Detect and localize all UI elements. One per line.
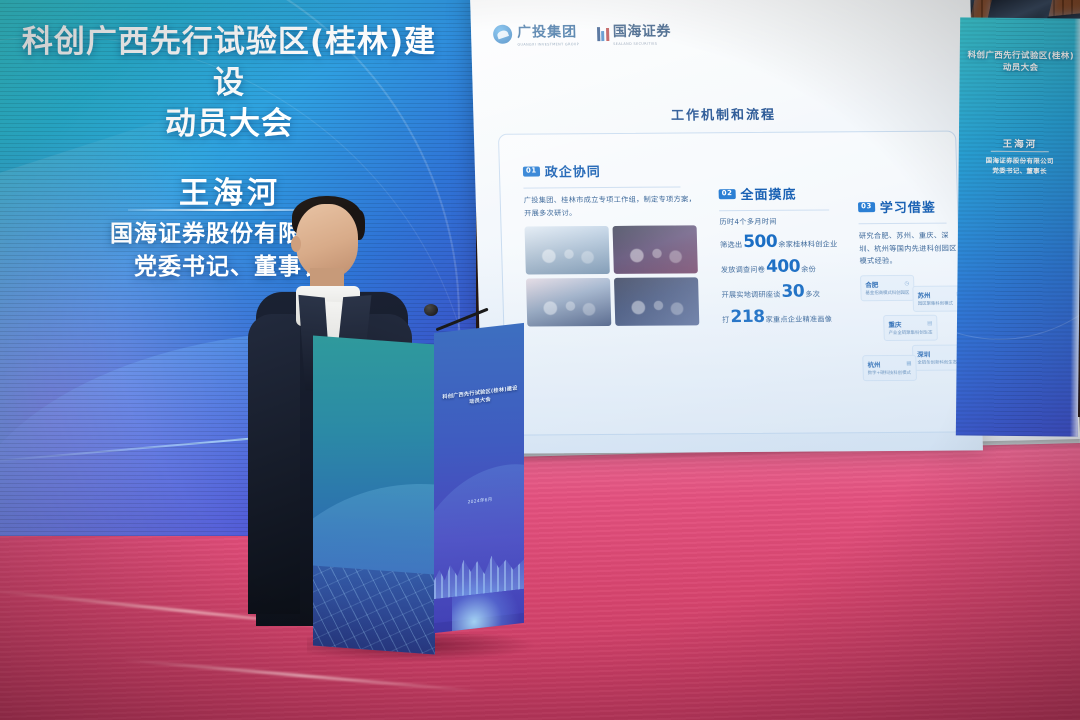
podium-light-flare — [452, 565, 524, 633]
logo-2-name: 国海证券 — [613, 24, 671, 40]
podium-circuit-graphic — [313, 565, 435, 655]
conference-stage-scene: 科创广西先行试验区(桂林)建设 动员大会 王海河 国海证券股份有限公司 党委书记… — [0, 0, 1080, 720]
section-03-city-cards: 合肥 ◷ 基金招商模式科创园区 苏州 ◨ 园区聚集科创模式 重庆 ▤ — [860, 274, 963, 387]
logo-1-subtitle: GUANGXI INVESTMENT GROUP — [517, 42, 579, 46]
slide-section-01: 01 政企协同 广投集团、桂林市成立专项工作组，制定专项方案，开展多次研讨。 — [523, 160, 706, 326]
city-card: 重庆 ▤ 产业全链聚集科创生态 — [883, 314, 938, 340]
logo-bars-shape — [597, 27, 609, 41]
section-03-body: 研究合肥、苏州、重庆、深圳、杭州等国内先进科创园区模式经验。 — [859, 230, 960, 268]
section-01-body: 广投集团、桂林市成立专项工作组，制定专项方案，开展多次研讨。 — [524, 193, 703, 219]
stat-suffix: 多次 — [805, 289, 820, 299]
city-name: 重庆 — [888, 319, 901, 329]
stat-row: 打 218 家重点企业精准画像 — [722, 306, 848, 327]
speaking-podium: 科创广西先行试验区(桂林)建设动员大会 2024年6月 — [313, 334, 523, 654]
stat-suffix: 家重点企业精准画像 — [765, 314, 832, 324]
guangtou-swoosh-logo-icon: 广投集团 GUANGXI INVESTMENT GROUP — [493, 21, 579, 47]
section-03-divider — [859, 223, 947, 225]
city-desc: 园区聚集科创模式 — [918, 301, 962, 307]
section-02-title: 全面摸底 — [740, 184, 797, 203]
stat-row: 发放调查问卷 400 余份 — [720, 256, 846, 277]
city-desc: 基金招商模式科创园区 — [865, 291, 909, 297]
left-arm — [248, 314, 300, 614]
city-card-row: 深圳 ◈ — [917, 348, 961, 358]
slide-heading: 工作机制和流程 — [473, 102, 974, 124]
city-card-icon: ▦ — [906, 361, 911, 367]
left-title-line-2: 动员大会 — [14, 104, 444, 145]
head — [296, 204, 358, 278]
city-desc: 全链条创新科创生态 — [917, 360, 961, 366]
city-name: 合肥 — [865, 279, 878, 289]
city-name: 深圳 — [917, 348, 930, 358]
section-02-header: 02 全面摸底 — [718, 183, 844, 203]
photo-factory-visit — [525, 226, 610, 275]
section-01-divider — [523, 186, 680, 188]
city-card-row: 重庆 ▤ — [888, 318, 932, 328]
slide-section-02: 02 全面摸底 历时4个多月时间 筛选出 500 余家桂林科创企业 发放调查问卷… — [718, 183, 847, 327]
section-03-badge: 03 — [858, 202, 875, 212]
podium-side-face — [434, 323, 524, 633]
center-projection-screen: 广投集团 GUANGXI INVESTMENT GROUP 国海证券 SEALA… — [470, 0, 983, 454]
city-card: 杭州 ▦ 数字+硬科技科创模式 — [862, 355, 917, 381]
stat-row: 筛选出 500 余家桂林科创企业 — [720, 231, 846, 252]
left-screen-title: 科创广西先行试验区(桂林)建设 动员大会 — [14, 22, 444, 145]
right-led-display: 科创广西先行试验区(桂林) 动员大会 王海河 国海证券股份有限公司 党委书记、董… — [956, 17, 1080, 436]
section-01-photo-grid — [525, 226, 700, 327]
city-card-icon: ◷ — [904, 281, 909, 287]
stat-prefix: 筛选出 — [720, 240, 742, 250]
stat-prefix: 打 — [722, 315, 730, 325]
section-01-title: 政企协同 — [544, 161, 601, 180]
section-02-lead: 历时4个多月时间 — [719, 216, 844, 227]
stat-number: 400 — [766, 257, 801, 277]
section-01-badge: 01 — [523, 166, 540, 176]
logo-mark-shape — [493, 25, 513, 44]
city-card-row: 苏州 ◨ — [917, 289, 961, 299]
stat-number: 218 — [730, 307, 765, 327]
logo-1-name: 广投集团 — [517, 24, 577, 40]
logo-2-subtitle: SEALAND SECURITIES — [613, 42, 671, 46]
city-desc: 数字+硬科技科创模式 — [868, 371, 912, 377]
stat-number: 30 — [781, 282, 804, 302]
stat-suffix: 余份 — [801, 265, 816, 275]
stat-suffix: 余家桂林科创企业 — [778, 239, 837, 249]
section-01-header: 01 政企协同 — [523, 160, 702, 180]
stat-prefix: 开展实地调研座谈 — [721, 290, 780, 300]
city-name: 苏州 — [917, 290, 930, 300]
led-scanline-overlay — [956, 17, 1080, 436]
city-card: 合肥 ◷ 基金招商模式科创园区 — [860, 275, 915, 301]
city-card-icon: ▤ — [927, 320, 932, 326]
ear — [291, 236, 301, 252]
section-03-header: 03 学习借鉴 — [858, 197, 959, 217]
slide-section-03: 03 学习借鉴 研究合肥、苏州、重庆、深圳、杭州等国内先进科创园区模式经验。 合… — [858, 197, 963, 387]
city-name: 杭州 — [867, 359, 880, 369]
microphone-capsule — [424, 304, 438, 316]
city-card-row: 合肥 ◷ — [865, 279, 909, 289]
photo-meeting-hall — [614, 278, 699, 327]
city-desc: 产业全链聚集科创生态 — [889, 330, 933, 336]
stat-prefix: 发放调查问卷 — [721, 265, 766, 275]
sealand-bars-logo-icon: 国海证券 SEALAND SECURITIES — [597, 21, 672, 47]
stat-number: 500 — [743, 232, 778, 252]
stat-row: 开展实地调研座谈 30 多次 — [721, 281, 847, 302]
photo-conference-room — [526, 278, 611, 327]
city-card-row: 杭州 ▦ — [867, 359, 911, 369]
slide-logo-bar: 广投集团 GUANGXI INVESTMENT GROUP 国海证券 SEALA… — [493, 21, 671, 47]
left-title-line-1: 科创广西先行试验区(桂林)建设 — [22, 24, 436, 101]
section-02-divider — [719, 209, 829, 211]
section-02-badge: 02 — [719, 189, 736, 199]
podium-front-face — [313, 336, 435, 655]
photo-production-line — [613, 226, 698, 275]
section-03-title: 学习借鉴 — [880, 197, 937, 216]
